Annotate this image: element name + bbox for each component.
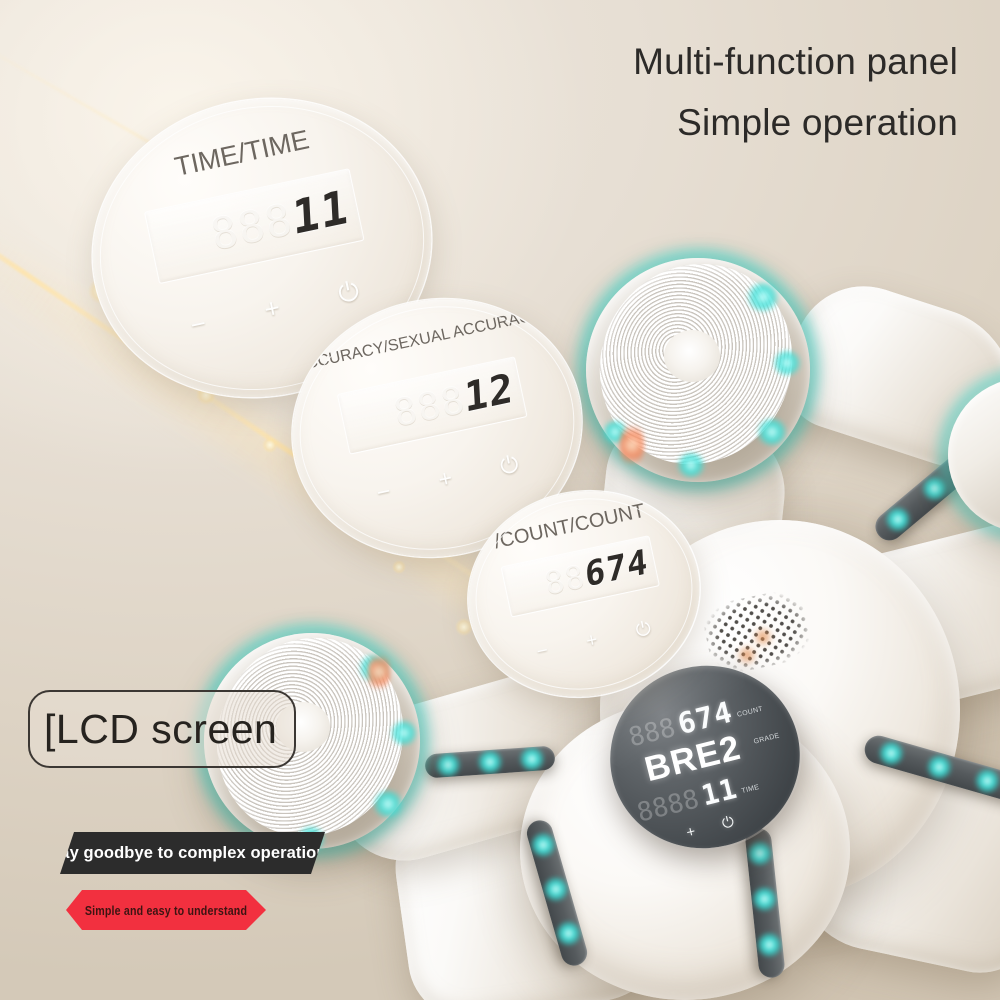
lcd-time-ghost: 8888: [634, 784, 702, 828]
lcd-count-value: 674: [674, 695, 736, 741]
lcd-count-unit: COUNT: [736, 706, 763, 719]
led-glow-dot-warm: [368, 650, 390, 694]
power-button[interactable]: ⏻: [336, 277, 362, 307]
banner-simple-easy: Simple and easy to understand :: [66, 890, 266, 930]
panel-time-ghost: 888: [206, 193, 297, 260]
lcd-brand-label: BRE2: [641, 728, 745, 790]
led-glow-dot-warm: [620, 420, 644, 470]
lcd-grade-unit: GRADE: [753, 732, 780, 745]
banner-dark-text: Say goodbye to complex operations: [49, 844, 336, 863]
headline-line-2: Simple operation: [633, 99, 958, 146]
massage-head-core-upper: [664, 330, 720, 382]
speaker-grille-warm-dot: [736, 644, 758, 666]
device-arm-lower-right: [782, 736, 1000, 984]
led-glow-dot: [358, 654, 390, 682]
massage-head-rim-upper: [586, 258, 810, 482]
led-glow-dot: [390, 720, 418, 746]
lcd-time-value: 11: [698, 772, 741, 813]
led-glow-dot: [756, 418, 788, 446]
minus-button[interactable]: −: [188, 310, 208, 339]
power-button[interactable]: ⏻: [720, 813, 736, 832]
panel-time-value: 11: [291, 179, 350, 246]
massage-head-rim-right: [948, 378, 1000, 532]
device-arm-right: [804, 512, 1000, 728]
panel-time-title: TIME/TIME: [72, 103, 411, 204]
headline-line-1: Multi-function panel: [633, 38, 958, 85]
flare-spark: [262, 437, 278, 453]
panel-time-display: 888 11: [144, 168, 365, 284]
device-hub-lower: [520, 700, 850, 1000]
led-strip-bottom-right: [744, 827, 786, 979]
massage-head-glow-right: [940, 370, 1000, 540]
minus-button[interactable]: −: [375, 479, 393, 504]
massage-head-glow-upper: [578, 250, 818, 490]
minus-button[interactable]: −: [649, 832, 662, 851]
led-glow-dot: [746, 282, 780, 312]
led-strip-left: [424, 745, 555, 778]
headline: Multi-function panel Simple operation: [633, 38, 958, 147]
panel-accuracy-ghost: 888: [390, 377, 469, 435]
panel-accuracy-display: 888 12: [337, 356, 528, 454]
led-glow-dot: [372, 790, 404, 818]
led-glow-dot: [602, 420, 628, 444]
product-marketing-image: 888 674 COUNT BRE2 GRADE 8888 11 TIME − …: [0, 0, 1000, 1000]
minus-button[interactable]: −: [535, 641, 550, 662]
device-arm-upper-right: [772, 268, 1000, 482]
led-strip-top-right: [870, 422, 1000, 546]
power-button[interactable]: ⏻: [498, 452, 521, 478]
plus-button[interactable]: +: [685, 823, 698, 842]
led-strip-mid-right: [861, 732, 1000, 805]
lcd-time-unit: TIME: [741, 784, 760, 795]
plus-button[interactable]: +: [262, 294, 282, 323]
lcd-screen-callout-label: [LCD screen: [44, 706, 277, 753]
device-arm-lower-left: [385, 763, 674, 1000]
lcd-button-row: − + ⏻: [649, 813, 736, 850]
banner-red-text: Simple and easy to understand: [85, 903, 247, 918]
power-button[interactable]: ⏻: [634, 619, 653, 641]
lcd-count-ghost: 888: [626, 713, 679, 753]
panel-count-value: 674: [584, 542, 649, 596]
massage-head-upper: [579, 238, 813, 489]
led-glow-dot: [676, 452, 706, 478]
banner-red-trailing: :: [236, 906, 239, 915]
led-strip-bottom-left: [524, 817, 590, 968]
lcd-time-row: 8888 11 TIME: [633, 766, 762, 828]
panel-count-ghost: 88: [541, 557, 589, 603]
plus-button[interactable]: +: [585, 630, 600, 651]
led-glow-dot: [772, 350, 802, 376]
banner-complex-operations: Say goodbye to complex operations: [60, 832, 325, 874]
speaker-grille-warm-dot: [752, 626, 774, 648]
lcd-count-row: 888 674 COUNT: [625, 687, 766, 753]
panel-accuracy-value: 12: [463, 365, 515, 422]
lcd-screen-callout: [LCD screen: [28, 690, 296, 768]
plus-button[interactable]: +: [436, 466, 454, 491]
